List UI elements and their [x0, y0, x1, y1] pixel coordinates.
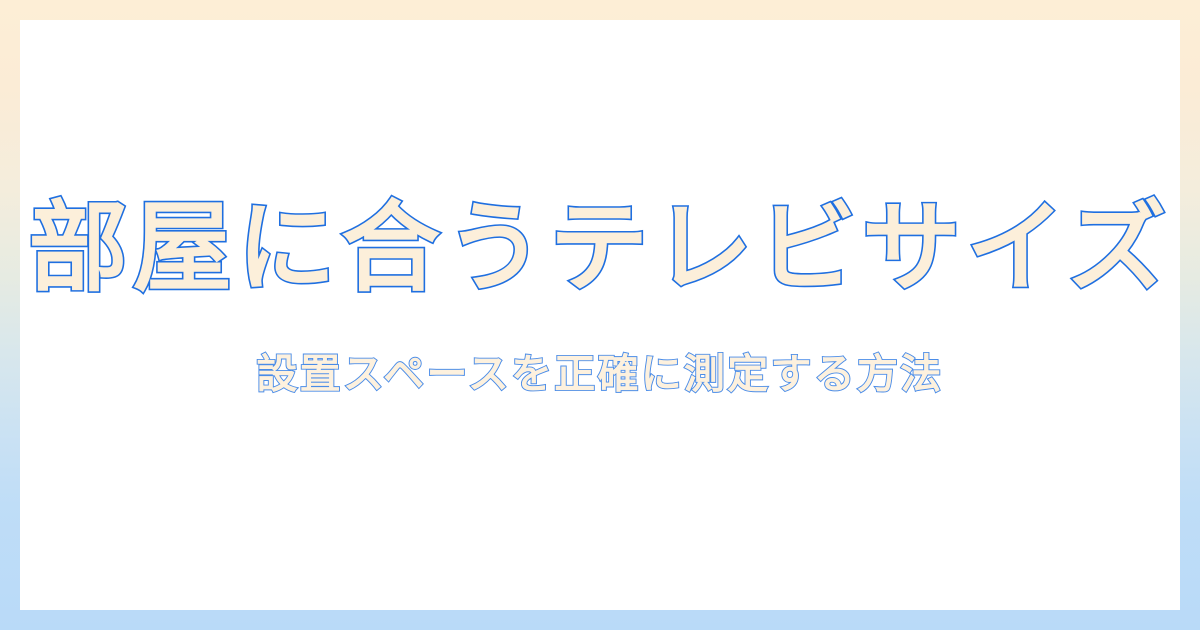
poster-frame: 部屋に合うテレビサイズ 設置スペースを正確に測定する方法 — [0, 0, 1200, 630]
poster-canvas: 部屋に合うテレビサイズ 設置スペースを正確に測定する方法 — [20, 20, 1180, 610]
poster-content: 部屋に合うテレビサイズ 設置スペースを正確に測定する方法 — [20, 20, 1180, 610]
title-container: 部屋に合うテレビサイズ — [20, 197, 1180, 302]
subtitle-container: 設置スペースを正確に測定する方法 — [20, 352, 1180, 397]
poster-title: 部屋に合うテレビサイズ — [20, 197, 1180, 302]
poster-subtitle: 設置スペースを正確に測定する方法 — [20, 352, 1180, 397]
